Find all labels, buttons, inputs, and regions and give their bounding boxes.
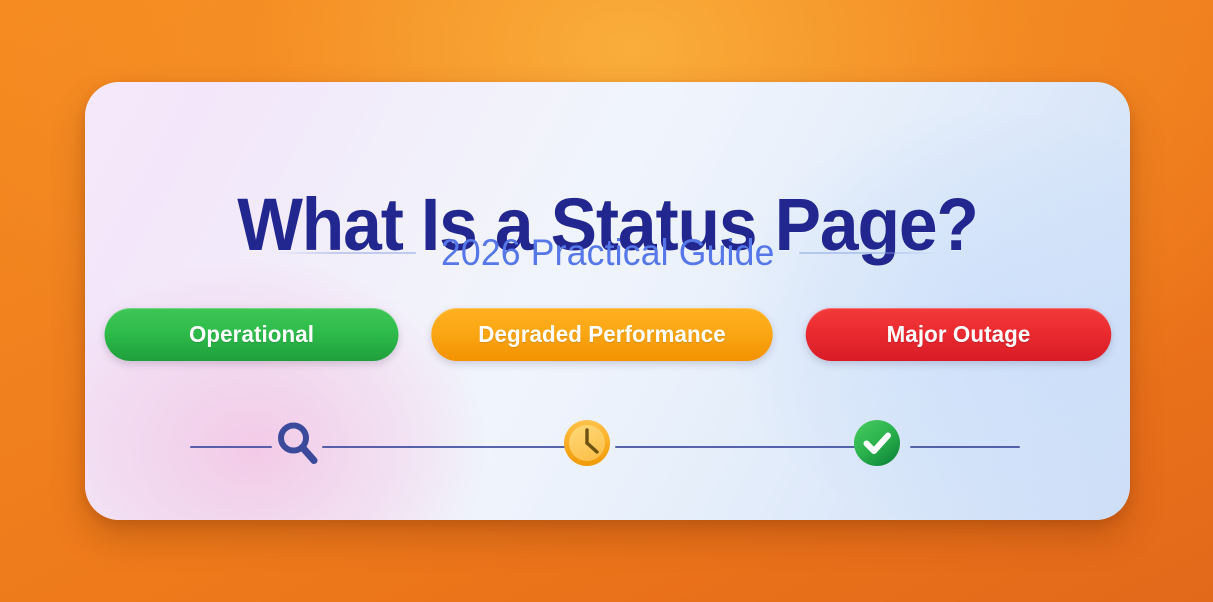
timeline-stage-resolved[interactable]: [842, 412, 912, 474]
status-badge-operational[interactable]: Operational: [104, 308, 398, 361]
status-badge-operational-label: Operational: [188, 321, 313, 348]
status-badge-degraded-performance[interactable]: Degraded Performance: [431, 308, 772, 361]
timeline-stage-investigating[interactable]: [262, 412, 332, 474]
timeline-track-segment-1: [322, 446, 567, 448]
subtitle-rule-left: [274, 252, 416, 254]
status-badge-major-outage[interactable]: Major Outage: [805, 308, 1111, 361]
incident-timeline: Investigating Monitoring Resolved: [190, 394, 1020, 494]
status-badge-group: Operational Degraded Performance Major O…: [85, 308, 1130, 361]
timeline-track-segment-end: [910, 446, 1020, 448]
clock-icon: [552, 412, 622, 474]
page-subtitle: 2026 Practical Guide: [441, 234, 775, 271]
timeline-track-segment-2: [615, 446, 855, 448]
status-badge-major-outage-label: Major Outage: [886, 321, 1030, 348]
subtitle-rule-right: [799, 252, 941, 254]
subtitle-row: 2026 Practical Guide: [85, 234, 1130, 271]
status-badge-degraded-performance-label: Degraded Performance: [478, 321, 725, 348]
timeline-track-segment-start: [190, 446, 272, 448]
magnifying-glass-icon: [262, 412, 332, 474]
timeline-stage-monitoring[interactable]: [552, 412, 622, 474]
poster-canvas: What Is a Status Page? 2026 Practical Gu…: [0, 0, 1213, 602]
poster-card: What Is a Status Page? 2026 Practical Gu…: [85, 82, 1130, 520]
check-circle-icon: [842, 412, 912, 474]
